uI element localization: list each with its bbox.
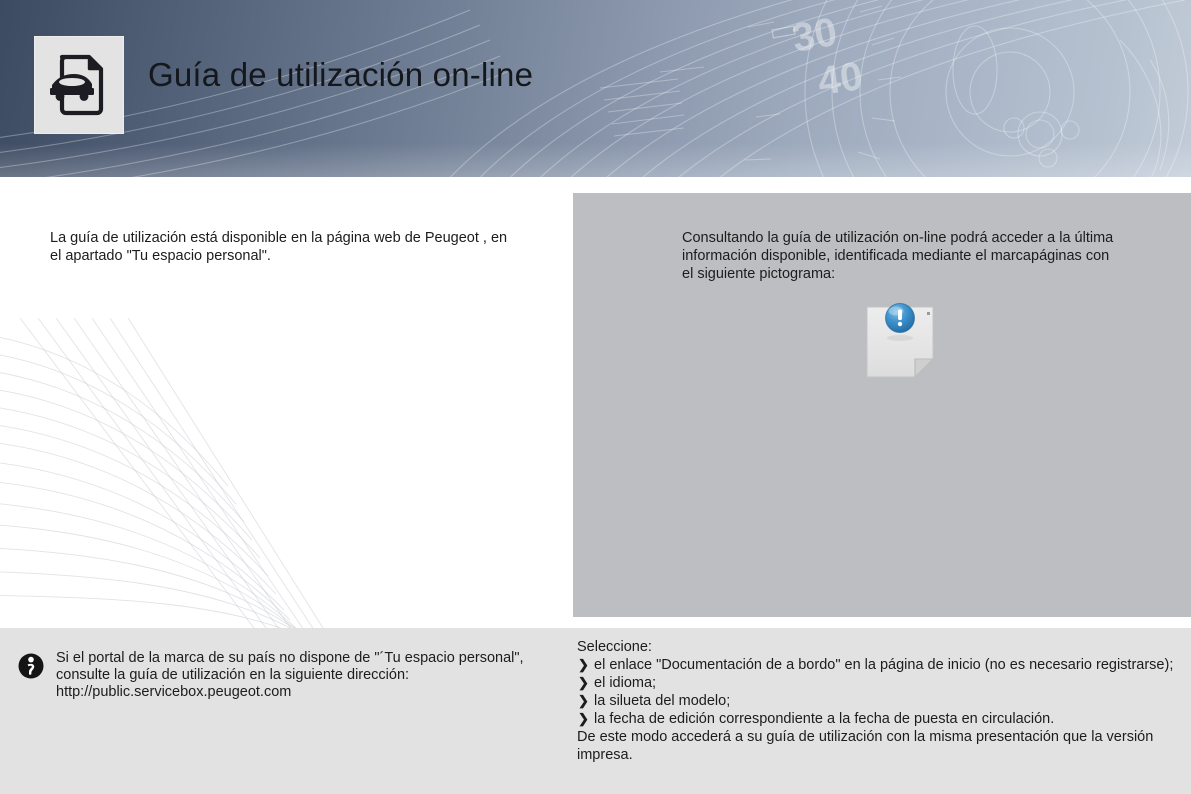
list-item-label: la silueta del modelo;: [594, 693, 730, 709]
list-item-label: la fecha de edición correspondiente a la…: [594, 711, 1054, 727]
background-watermark-lines: [0, 318, 360, 628]
page-title: Guía de utilización on-line: [148, 56, 533, 94]
header-gloss-overlay: [0, 143, 1191, 177]
footer-right-outro: De este modo accederá a su guía de utili…: [577, 728, 1177, 764]
right-panel-text-block: Consultando la guía de utilización on-li…: [682, 229, 1122, 283]
right-grey-panel: Consultando la guía de utilización on-li…: [573, 193, 1191, 617]
header-icon-box: [34, 36, 124, 134]
header-banner: 30 40 G: [0, 0, 1191, 177]
list-item: ❯ el enlace "Documentación de a bordo" e…: [577, 656, 1177, 674]
pictogram-corner-mark: [927, 312, 930, 315]
chevron-right-icon: ❯: [578, 710, 589, 728]
footer-left-text: Si el portal de la marca de su país no d…: [56, 650, 563, 701]
document-car-icon: [49, 51, 109, 119]
pictogram-page-fold: [915, 359, 933, 377]
info-icon-slot: [18, 653, 44, 679]
list-item: ❯ el idioma;: [577, 674, 1177, 692]
footer-right-note: Seleccione: ❯ el enlace "Documentación d…: [577, 638, 1177, 764]
header-mark-40: 40: [815, 54, 865, 104]
chevron-right-icon: ❯: [578, 656, 589, 674]
pictogram-badge-glyph: [898, 310, 902, 327]
left-paragraph: La guía de utilización está disponible e…: [50, 229, 520, 265]
right-panel-paragraph: Consultando la guía de utilización on-li…: [682, 229, 1122, 283]
bookmark-page-info-pictogram: [863, 301, 939, 383]
left-text-column: La guía de utilización está disponible e…: [50, 229, 520, 265]
content-area: La guía de utilización está disponible e…: [0, 177, 1191, 628]
info-circle-icon: [18, 653, 44, 679]
chevron-right-icon: ❯: [578, 692, 589, 710]
footer-right-intro: Seleccione:: [577, 638, 1177, 656]
footer-left-paragraph: Si el portal de la marca de su país no d…: [56, 650, 563, 701]
page-root: 30 40 G: [0, 0, 1191, 794]
footer-bullet-list: ❯ el enlace "Documentación de a bordo" e…: [577, 656, 1177, 728]
list-item: ❯ la silueta del modelo;: [577, 692, 1177, 710]
list-item: ❯ la fecha de edición correspondiente a …: [577, 710, 1177, 728]
footer-bar: Si el portal de la marca de su país no d…: [0, 628, 1191, 794]
list-item-label: el idioma;: [594, 675, 656, 691]
chevron-right-icon: ❯: [578, 674, 589, 692]
pictogram-container: [863, 301, 939, 383]
list-item-label: el enlace "Documentación de a bordo" en …: [594, 657, 1173, 673]
header-mark-30: 30: [789, 10, 840, 61]
footer-left-note: Si el portal de la marca de su país no d…: [18, 650, 563, 701]
